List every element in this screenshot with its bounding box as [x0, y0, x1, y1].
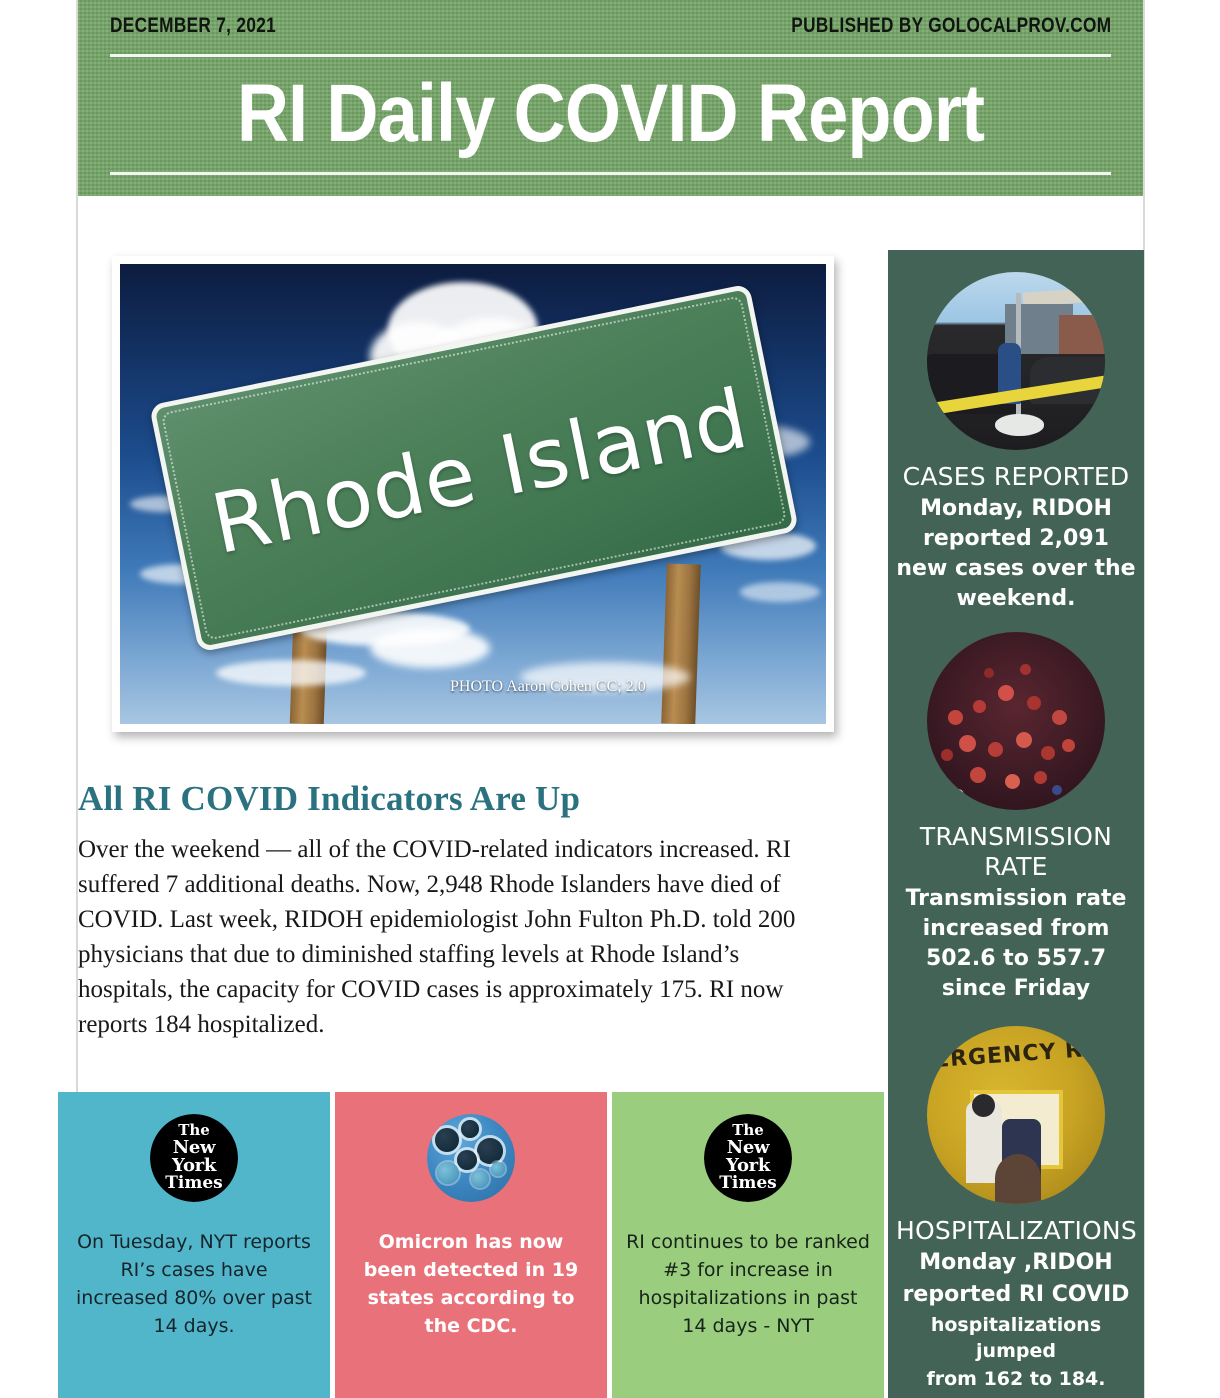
sidebar-title-cases-reported: CASES REPORTED	[896, 462, 1136, 492]
cloud-icon	[740, 582, 820, 602]
cloud-icon	[216, 660, 366, 686]
nyt-logo-line-3: Times	[719, 1175, 776, 1192]
virion-shape	[437, 1162, 459, 1184]
card-figure: The New York Times	[150, 1114, 238, 1202]
sidebar-title-hospitalizations: HOSPITALIZATIONS	[896, 1216, 1136, 1246]
sidebar-body-transmission-rate: Transmission rate increased from 502.6 t…	[896, 884, 1136, 1004]
sidebar-block-cases-reported: CASES REPORTED Monday, RIDOH reported 2,…	[896, 272, 1136, 614]
card-text: RI continues to be ranked #3 for increas…	[626, 1228, 870, 1340]
virion-shape	[491, 1162, 505, 1176]
masthead-rule-bottom	[110, 172, 1111, 175]
crowd-dot	[984, 668, 994, 678]
highway-sign: Rhode Island	[149, 284, 799, 653]
crowd-photo	[927, 632, 1105, 810]
crowd-dot	[1052, 710, 1067, 725]
person-head-shape	[972, 1094, 995, 1117]
stats-sidebar: CASES REPORTED Monday, RIDOH reported 2,…	[888, 250, 1144, 1398]
fact-card-nyt-rank[interactable]: The New York Times RI continues to be ra…	[612, 1092, 884, 1398]
card-text: Omicron has now been detected in 19 stat…	[349, 1228, 593, 1340]
rhode-island-sign-photo: Rhode Island PHOTO Aaron Cohen CC; 2.0	[120, 264, 826, 724]
emergency-room-sign-text: ERGENCY ROO	[933, 1036, 1105, 1073]
emergency-room-photo: ERGENCY ROO	[927, 1026, 1105, 1204]
new-york-times-logo-icon: The New York Times	[704, 1114, 792, 1202]
coronavirus-icon	[427, 1114, 515, 1202]
sidebar-body-hospitalizations-line-3: hospitalizations jumped	[896, 1312, 1136, 1364]
crowd-dot	[988, 742, 1003, 757]
crowd-dot	[1062, 739, 1075, 752]
nyt-logo-line-3: Times	[165, 1175, 222, 1192]
crowd-dot	[1041, 746, 1055, 760]
newsletter-page: DECEMBER 7, 2021 PUBLISHED BY GOLOCALPRO…	[0, 0, 1220, 1398]
crowd-dot	[948, 710, 963, 725]
crowd-dot	[1034, 771, 1047, 784]
masthead-topline: DECEMBER 7, 2021 PUBLISHED BY GOLOCALPRO…	[110, 14, 1111, 38]
crowd-dot	[959, 735, 976, 752]
article-body: Over the weekend — all of the COVID-rela…	[78, 832, 838, 1042]
crowd-dot	[973, 700, 986, 713]
building-shape	[1059, 315, 1105, 354]
crowd-dot	[1020, 664, 1031, 675]
masthead-rule-top	[110, 54, 1111, 57]
virion-shape	[471, 1170, 489, 1188]
sidebar-title-transmission-rate: TRANSMISSION RATE	[896, 822, 1136, 882]
fact-card-nyt-cases[interactable]: The New York Times On Tuesday, NYT repor…	[58, 1092, 330, 1398]
card-text: On Tuesday, NYT reports RI’s cases have …	[72, 1228, 316, 1340]
cloud-icon	[370, 628, 490, 668]
issue-date: DECEMBER 7, 2021	[110, 14, 276, 38]
sidebar-body-cases-reported: Monday, RIDOH reported 2,091 new cases o…	[896, 494, 1136, 614]
card-figure: The New York Times	[704, 1114, 792, 1202]
virion-shape	[477, 1138, 503, 1164]
crowd-dot	[970, 767, 986, 783]
article: All RI COVID Indicators Are Up Over the …	[78, 778, 838, 1042]
sign-post	[661, 563, 701, 724]
person-shape	[995, 1154, 1041, 1204]
fact-card-omicron[interactable]: Omicron has now been detected in 19 stat…	[335, 1092, 607, 1398]
new-york-times-logo-icon: The New York Times	[150, 1114, 238, 1202]
publisher-label: PUBLISHED BY GOLOCALPROV.COM	[791, 14, 1111, 38]
covid-testing-site-photo	[927, 272, 1105, 450]
crowd-dot	[1027, 696, 1041, 710]
fact-card-row: The New York Times On Tuesday, NYT repor…	[58, 1092, 884, 1398]
sidebar-body-hospitalizations-line-2: reported RI COVID	[896, 1280, 1136, 1310]
crowd-dot	[998, 685, 1014, 701]
sidebar-block-hospitalizations: ERGENCY ROO HOSPITALIZATIONS Monday ,RID…	[896, 1026, 1136, 1392]
hero-figure: Rhode Island PHOTO Aaron Cohen CC; 2.0	[112, 256, 834, 732]
sidebar-block-transmission-rate: TRANSMISSION RATE Transmission rate incr…	[896, 632, 1136, 1004]
sign-base-shape	[995, 414, 1045, 435]
page-title: RI Daily COVID Report	[142, 64, 1079, 164]
card-figure	[427, 1114, 515, 1202]
nyt-logo-line-2: New York	[704, 1139, 792, 1176]
crowd-dot	[952, 789, 964, 801]
masthead-banner: DECEMBER 7, 2021 PUBLISHED BY GOLOCALPRO…	[78, 0, 1143, 196]
crowd-dot	[941, 749, 953, 761]
sign-text: Rhode Island	[155, 287, 805, 656]
nyt-logo-line-2: New York	[150, 1139, 238, 1176]
crowd-dot	[1005, 774, 1020, 789]
virion-shape	[435, 1128, 459, 1152]
article-headline: All RI COVID Indicators Are Up	[78, 778, 838, 820]
sidebar-body-hospitalizations-line-4: from 162 to 184.	[896, 1366, 1136, 1392]
virion-shape	[457, 1150, 477, 1170]
photo-credit: PHOTO Aaron Cohen CC; 2.0	[450, 678, 646, 696]
virion-shape	[461, 1120, 479, 1138]
crowd-dot	[1052, 785, 1062, 795]
sidebar-body-hospitalizations-line-1: Monday ,RIDOH	[896, 1248, 1136, 1278]
crowd-dot	[1016, 732, 1032, 748]
